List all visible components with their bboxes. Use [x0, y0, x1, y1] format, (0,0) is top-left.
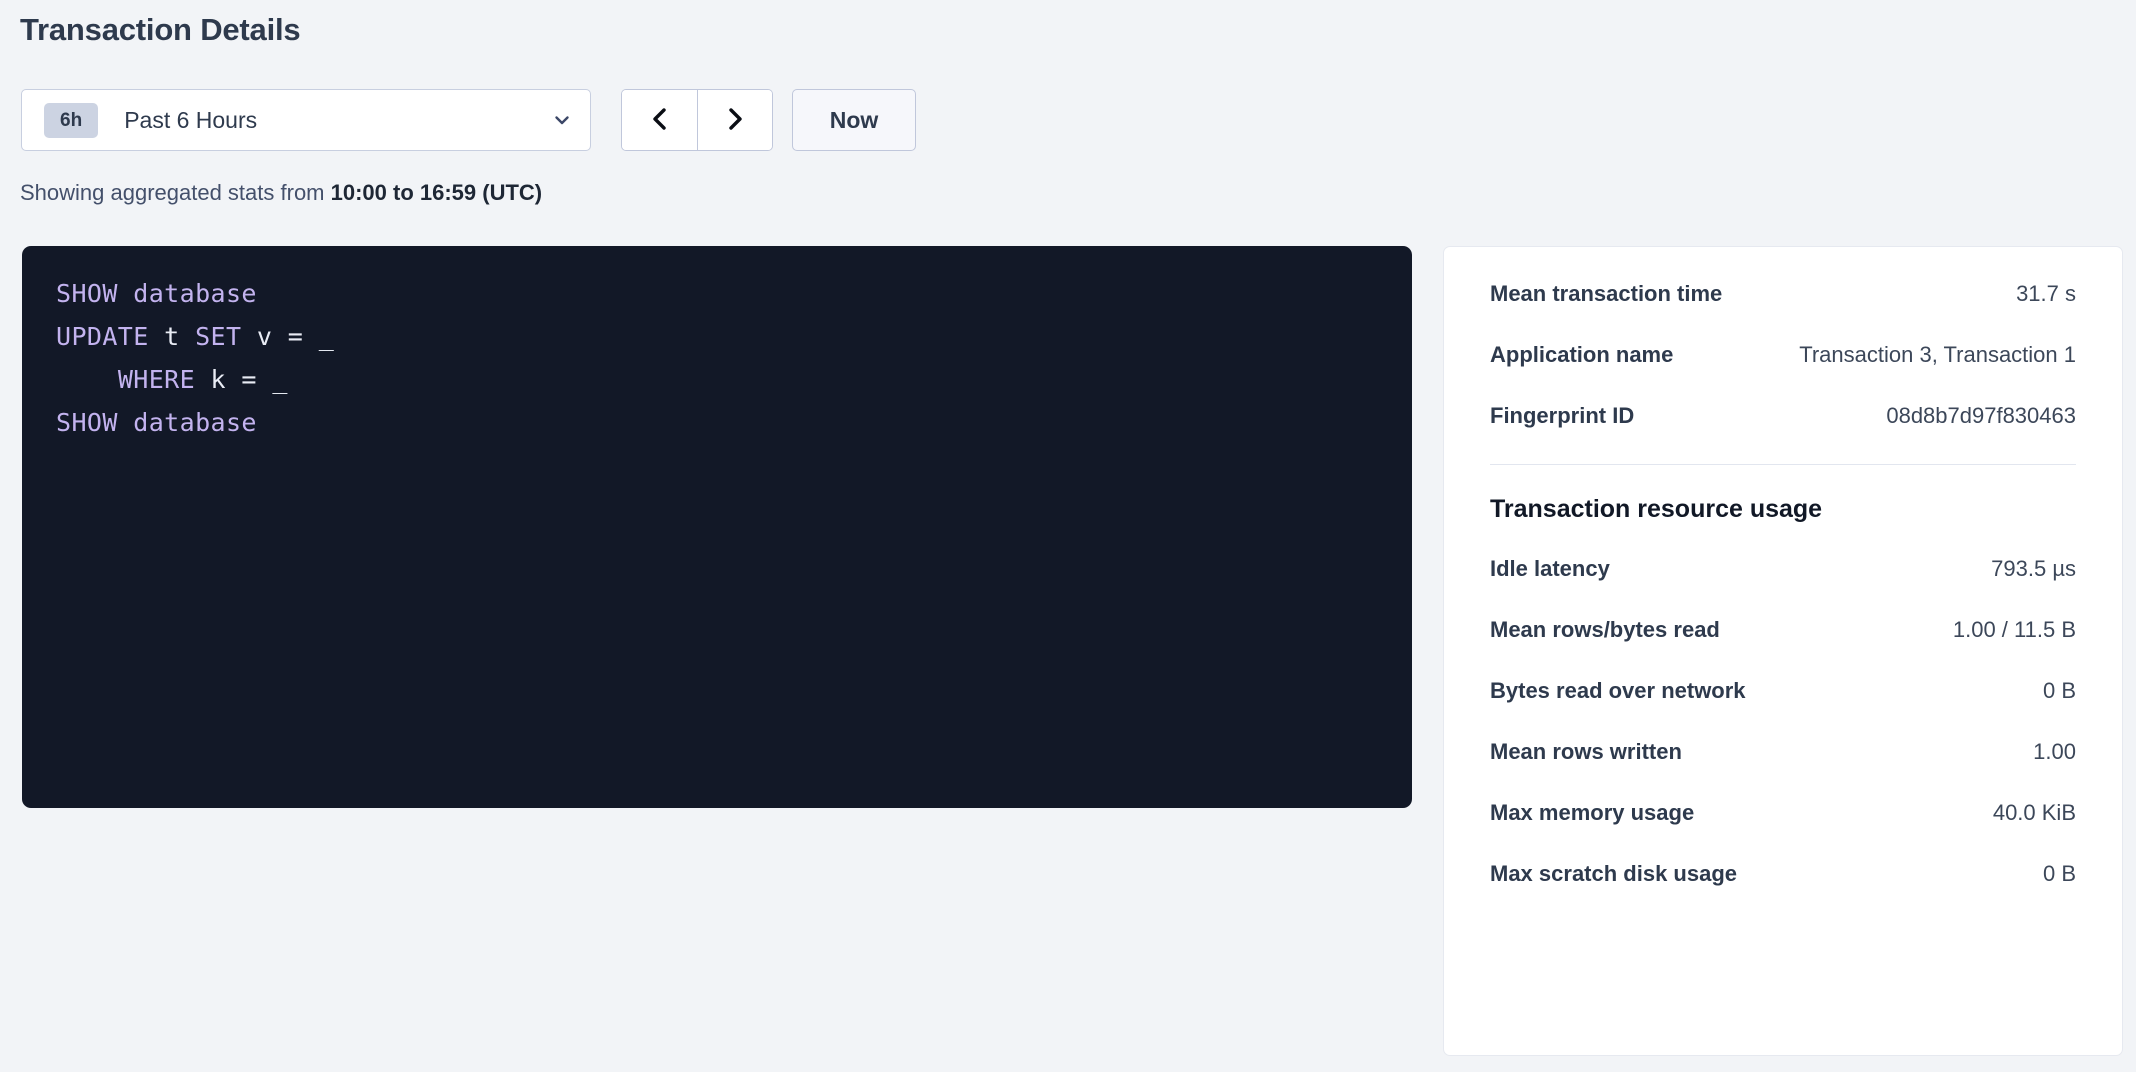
next-period-button[interactable]: [697, 90, 772, 150]
time-range-badge: 6h: [44, 103, 98, 138]
panel-divider: [1490, 464, 2076, 465]
stat-value: 1.00 / 11.5 B: [1953, 617, 2076, 643]
stat-value: 08d8b7d97f830463: [1886, 403, 2076, 429]
stat-value: 0 B: [2043, 861, 2076, 887]
stat-value: 0 B: [2043, 678, 2076, 704]
chevron-down-icon: [552, 110, 572, 130]
query-token: WHERE: [118, 365, 195, 394]
page-title: Transaction Details: [20, 12, 300, 48]
time-range-select[interactable]: 6h Past 6 Hours: [21, 89, 591, 151]
query-token: k = _: [211, 365, 288, 394]
now-button[interactable]: Now: [792, 89, 916, 151]
query-token: v = _: [257, 322, 334, 351]
stat-label: Max scratch disk usage: [1490, 861, 1737, 887]
time-nav-button-group: [621, 89, 773, 151]
stat-label: Mean rows written: [1490, 739, 1682, 765]
summary-stats-list: Mean transaction time31.7 sApplication n…: [1490, 281, 2076, 429]
resource-stat-row: Mean rows/bytes read1.00 / 11.5 B: [1490, 617, 2076, 643]
stat-label: Mean rows/bytes read: [1490, 617, 1720, 643]
stat-label: Bytes read over network: [1490, 678, 1746, 704]
resource-stat-row: Bytes read over network0 B: [1490, 678, 2076, 704]
query-token: database: [133, 408, 257, 437]
aggregation-note-prefix: Showing aggregated stats from: [20, 180, 331, 205]
chevron-right-icon: [722, 104, 748, 137]
stat-value: Transaction 3, Transaction 1: [1799, 342, 2076, 368]
stat-value: 793.5 µs: [1991, 556, 2076, 582]
stat-value: 40.0 KiB: [1993, 800, 2076, 826]
aggregation-note: Showing aggregated stats from 10:00 to 1…: [20, 180, 542, 206]
stat-label: Application name: [1490, 342, 1673, 368]
summary-stat-row: Fingerprint ID08d8b7d97f830463: [1490, 403, 2076, 429]
stat-label: Max memory usage: [1490, 800, 1694, 826]
stat-value: 31.7 s: [2016, 281, 2076, 307]
query-token: UPDATE: [56, 322, 149, 351]
resource-stat-row: Mean rows written1.00: [1490, 739, 2076, 765]
query-code-block[interactable]: SHOW database UPDATE t SET v = _ WHERE k…: [22, 246, 1412, 808]
transaction-details-panel: Mean transaction time31.7 sApplication n…: [1443, 246, 2123, 1056]
query-token: SHOW: [56, 279, 118, 308]
resource-stat-row: Max memory usage40.0 KiB: [1490, 800, 2076, 826]
time-range-label: Past 6 Hours: [124, 107, 552, 134]
time-range-toolbar: 6h Past 6 Hours Now: [21, 89, 916, 151]
stat-label: Mean transaction time: [1490, 281, 1722, 307]
resource-stat-row: Max scratch disk usage0 B: [1490, 861, 2076, 887]
query-token: t: [164, 322, 179, 351]
resource-stat-row: Idle latency793.5 µs: [1490, 556, 2076, 582]
chevron-left-icon: [647, 104, 673, 137]
stat-label: Fingerprint ID: [1490, 403, 1634, 429]
query-code-text: SHOW database UPDATE t SET v = _ WHERE k…: [56, 272, 1378, 444]
resource-usage-list: Idle latency793.5 µsMean rows/bytes read…: [1490, 556, 2076, 887]
previous-period-button[interactable]: [622, 90, 697, 150]
resource-usage-heading: Transaction resource usage: [1490, 495, 2076, 524]
stat-value: 1.00: [2033, 739, 2076, 765]
query-token: SET: [195, 322, 241, 351]
aggregation-note-range: 10:00 to 16:59 (UTC): [331, 180, 543, 205]
summary-stat-row: Application nameTransaction 3, Transacti…: [1490, 342, 2076, 368]
stat-label: Idle latency: [1490, 556, 1610, 582]
summary-stat-row: Mean transaction time31.7 s: [1490, 281, 2076, 307]
query-token: SHOW: [56, 408, 118, 437]
query-token: database: [133, 279, 257, 308]
